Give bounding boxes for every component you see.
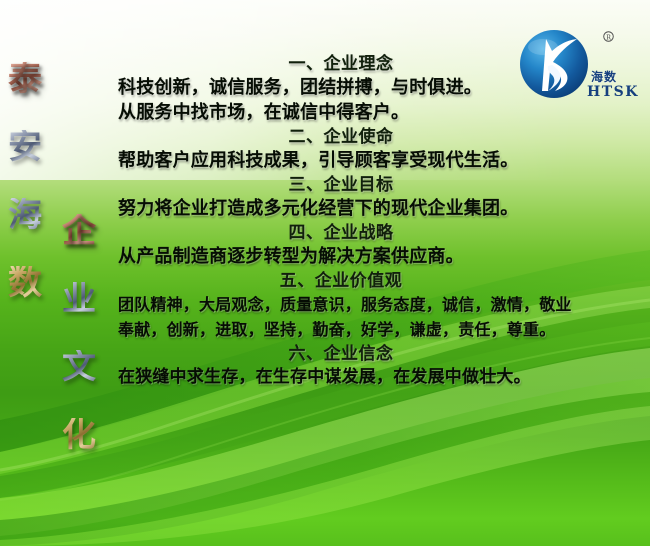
section-heading: 二、企业使命 bbox=[118, 125, 564, 148]
section-line: 奉献，创新，进取，坚持，勤奋，好学，谦虚，责任，尊重。 bbox=[118, 317, 564, 342]
section-mission: 二、企业使命 帮助客户应用科技成果，引导顾客享受现代生活。 bbox=[118, 125, 564, 173]
section-line: 团队精神，大局观念，质量意识，服务态度，诚信，激情，敬业 bbox=[118, 292, 564, 317]
svg-text:R: R bbox=[606, 33, 611, 41]
section-line: 从产品制造商逐步转型为解决方案供应商。 bbox=[118, 244, 564, 269]
section-heading: 三、企业目标 bbox=[118, 173, 564, 196]
section-values: 五、企业价值观 团队精神，大局观念，质量意识，服务态度，诚信，激情，敬业 奉献，… bbox=[118, 269, 564, 342]
section-heading: 一、企业理念 bbox=[118, 52, 564, 75]
vertical-char: 泰 bbox=[8, 62, 42, 96]
section-line: 努力将企业打造成多元化经营下的现代企业集团。 bbox=[118, 196, 564, 221]
logo-name-cn: 海数 bbox=[591, 68, 617, 85]
section-goal: 三、企业目标 努力将企业打造成多元化经营下的现代企业集团。 bbox=[118, 173, 564, 221]
section-strategy: 四、企业战略 从产品制造商逐步转型为解决方案供应商。 bbox=[118, 221, 564, 269]
vertical-char: 化 bbox=[62, 418, 96, 452]
vertical-char: 企 bbox=[62, 214, 96, 248]
vertical-title-column-1: 泰 安 海 数 bbox=[8, 62, 42, 334]
section-line: 帮助客户应用科技成果，引导顾客享受现代生活。 bbox=[118, 148, 564, 173]
vertical-char: 安 bbox=[8, 130, 42, 164]
section-line: 从服务中找市场，在诚信中得客户。 bbox=[118, 100, 564, 125]
vertical-char: 文 bbox=[62, 350, 96, 384]
section-line: 科技创新，诚信服务，团结拼搏，与时俱进。 bbox=[118, 75, 564, 100]
section-belief: 六、企业信念 在狭缝中求生存，在生存中谋发展，在发展中做壮大。 bbox=[118, 342, 564, 390]
corporate-culture-poster: R 海数 HTSK 泰 安 海 数 企 业 文 化 一、企业理念 科技创新，诚信… bbox=[0, 0, 650, 546]
vertical-char: 海 bbox=[8, 198, 42, 232]
section-heading: 六、企业信念 bbox=[118, 342, 564, 365]
section-heading: 五、企业价值观 bbox=[118, 269, 564, 292]
vertical-char: 业 bbox=[62, 282, 96, 316]
vertical-title-column-2: 企 业 文 化 bbox=[62, 214, 96, 486]
section-line: 在狭缝中求生存，在生存中谋发展，在发展中做壮大。 bbox=[118, 365, 564, 390]
logo-name-en: HTSK bbox=[587, 84, 639, 100]
section-heading: 四、企业战略 bbox=[118, 221, 564, 244]
vertical-char: 数 bbox=[8, 266, 42, 300]
section-philosophy: 一、企业理念 科技创新，诚信服务，团结拼搏，与时俱进。 从服务中找市场，在诚信中… bbox=[118, 52, 564, 125]
poster-body-content: 一、企业理念 科技创新，诚信服务，团结拼搏，与时俱进。 从服务中找市场，在诚信中… bbox=[118, 52, 564, 390]
registered-trademark-icon: R bbox=[603, 31, 614, 42]
